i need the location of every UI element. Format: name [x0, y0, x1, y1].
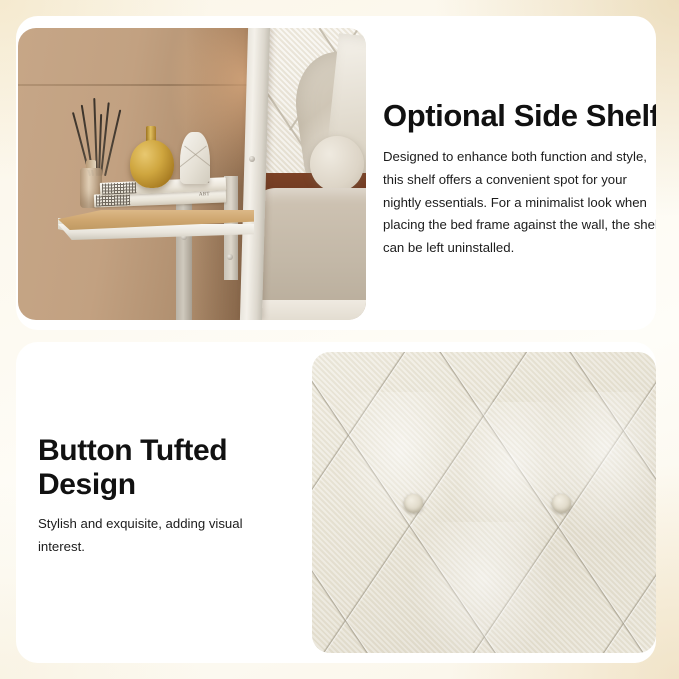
book-cover-pattern — [96, 194, 130, 206]
mattress — [256, 188, 366, 318]
page-canvas: ART FICTIONS Optional Side Shelf Design — [0, 0, 679, 679]
button-tufted-panel-photo — [312, 352, 656, 653]
side-shelf-text-block: Optional Side Shelf Designed to enhance … — [383, 98, 656, 260]
diamond-highlight — [442, 402, 582, 562]
bedroom-scene: ART FICTIONS — [18, 28, 366, 320]
bedroom-side-shelf-photo: ART FICTIONS — [18, 28, 366, 320]
tuft-button — [552, 494, 571, 513]
page-title: Button Tufted Design — [38, 434, 288, 502]
button-tufted-description: Stylish and exquisite, adding visual int… — [38, 513, 288, 558]
bed-area — [256, 28, 366, 320]
screw-icon — [249, 156, 255, 162]
bolster-pillow — [310, 136, 364, 192]
feature-card-button-tufted: Button Tufted Design Stylish and exquisi… — [16, 342, 656, 663]
heading-line-2: Design — [38, 468, 288, 502]
side-shelf-description: Designed to enhance both function and st… — [383, 146, 656, 260]
geometric-vase — [180, 132, 210, 184]
page-title: Optional Side Shelf — [383, 98, 656, 133]
tuft-button — [404, 494, 423, 513]
reed-diffuser-sticks — [76, 96, 120, 176]
book-cover-pattern — [102, 182, 136, 195]
screw-icon — [227, 254, 233, 260]
feature-card-side-shelf: ART FICTIONS Optional Side Shelf Design — [16, 16, 656, 330]
tufted-fabric-panel — [312, 352, 656, 653]
tuft-seam — [417, 352, 656, 653]
tuft-seam — [312, 352, 551, 653]
button-tufted-text-block: Button Tufted Design Stylish and exquisi… — [38, 434, 288, 559]
heading-line-1: Button Tufted — [38, 434, 288, 468]
bed-base-rail — [256, 300, 366, 320]
bed-frame-leg — [176, 188, 192, 320]
book-title: ART — [199, 192, 210, 197]
gold-vase — [130, 140, 174, 188]
